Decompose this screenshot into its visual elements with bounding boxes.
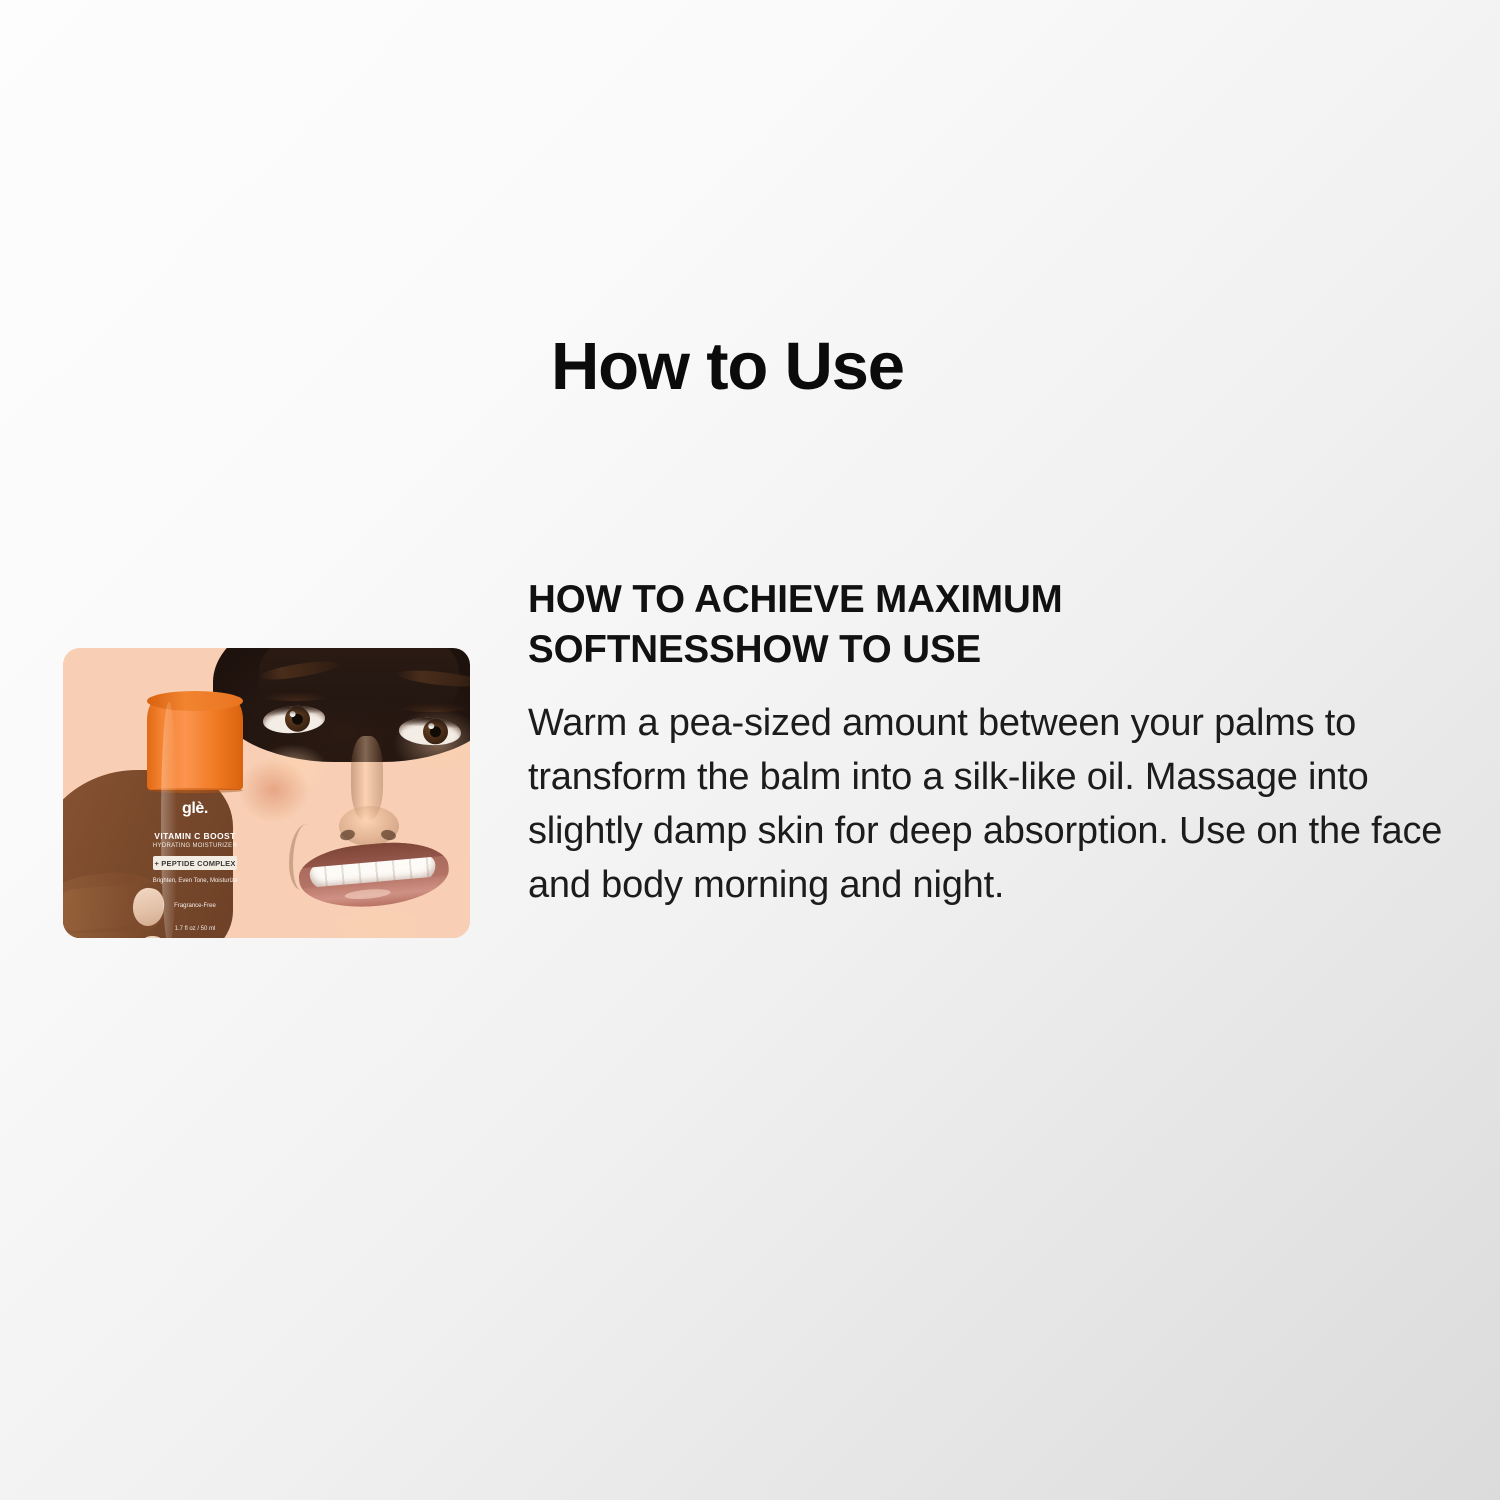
how-to-use-text-column: HOW TO ACHIEVE MAXIMUM SOFTNESSHOW TO US… [528, 575, 1453, 913]
eyelid-crease-left [259, 692, 331, 701]
cheek-blush [239, 758, 309, 822]
bottle-brand-label: glè. [147, 800, 243, 818]
product-photo: glè. VITAMIN C BOOST HYDRATING MOISTURIZ… [63, 648, 470, 938]
bottle-cap-top [147, 691, 243, 711]
bottle-benefits-text: Brighten, Even Tone, Moisturize [147, 878, 243, 884]
bottle-fragrance-text: Fragrance-Free [147, 903, 243, 909]
how-to-use-page: How to Use [0, 0, 1500, 1500]
section-body-text: Warm a pea-sized amount between your pal… [528, 697, 1453, 913]
eyelid-crease-right [395, 703, 470, 712]
bottle-product-name: VITAMIN C BOOST [147, 831, 243, 841]
bottle-peptide-badge: + PEPTIDE COMPLEX [153, 856, 237, 870]
bottle-product-subtitle: HYDRATING MOISTURIZER [147, 843, 243, 849]
page-title: How to Use [551, 333, 904, 400]
product-image-card[interactable]: glè. VITAMIN C BOOST HYDRATING MOISTURIZ… [63, 648, 470, 938]
product-bottle: glè. VITAMIN C BOOST HYDRATING MOISTURIZ… [147, 698, 243, 938]
bottle-size-text: 1.7 fl oz / 50 ml [147, 926, 243, 932]
section-heading: HOW TO ACHIEVE MAXIMUM SOFTNESSHOW TO US… [528, 575, 1258, 675]
eyelash-right [399, 716, 461, 728]
